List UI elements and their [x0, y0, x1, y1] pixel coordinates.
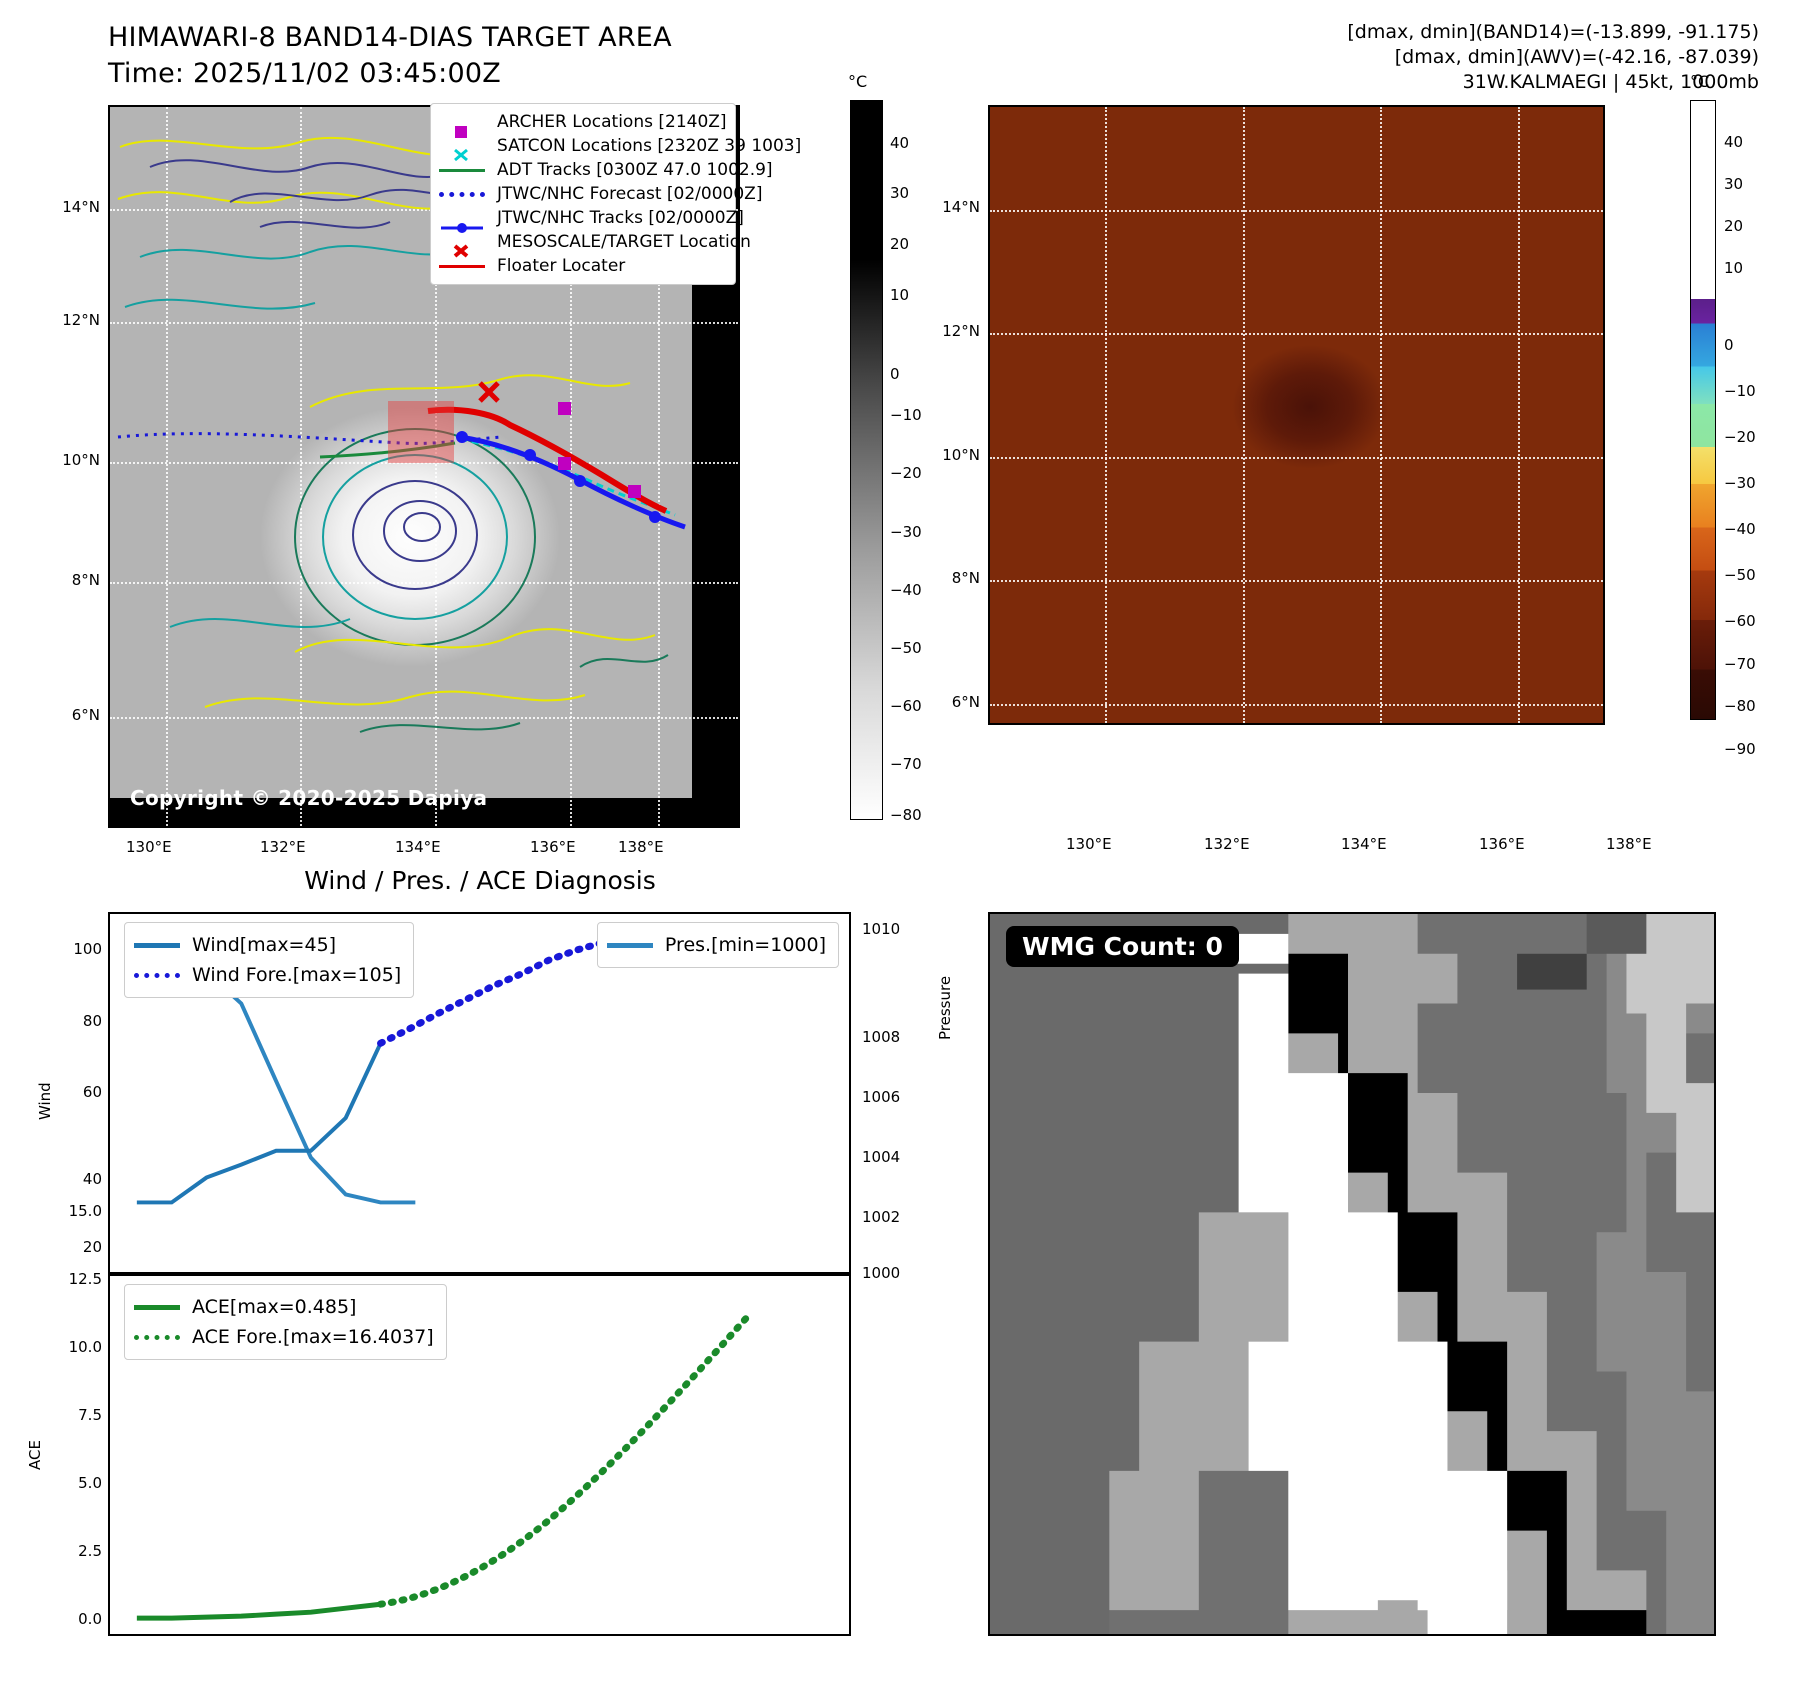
legend-item-jtwc-forecast: JTWC/NHC Forecast [02/0000Z]: [439, 182, 727, 206]
awv-colorbar: [1690, 100, 1716, 720]
awv-satellite-panel[interactable]: [988, 105, 1605, 725]
awv-xtick-130e: 130°E: [1066, 835, 1112, 853]
legend-item-jtwc-tracks: JTWC/NHC Tracks [02/0000Z]: [439, 206, 727, 230]
legend-item-ace: ACE[max=0.485]: [134, 1292, 434, 1322]
ir-xtick-134e: 134°E: [395, 838, 441, 856]
ace-ytick-12_5: 12.5: [40, 1270, 102, 1288]
legend-label: SATCON Locations [2320Z 39 1003]: [497, 134, 801, 158]
pres-ytick-1006: 1006: [862, 1088, 900, 1106]
awv-cb-tick: 0: [1724, 336, 1734, 354]
copyright-text: Copyright © 2020-2025 Dapiya: [130, 786, 487, 810]
pres-ytick-1010: 1010: [862, 920, 900, 938]
legend-item-pressure: Pres.[min=1000]: [607, 930, 826, 960]
legend-label: JTWC/NHC Forecast [02/0000Z]: [497, 182, 762, 206]
legend-label: MESOSCALE/TARGET Location: [497, 230, 751, 254]
wind-series: [137, 1043, 381, 1202]
wmg-image: [990, 914, 1714, 1634]
ir-cb-tick: −70: [890, 755, 922, 773]
ir-ytick-10n: 10°N: [40, 451, 100, 469]
dmax-band14-text: [dmax, dmin](BAND14)=(-13.899, -91.175): [1347, 20, 1759, 45]
wind-forecast-dotted-icon: [134, 973, 180, 978]
pres-ytick-1008: 1008: [862, 1028, 900, 1046]
awv-cb-tick: −40: [1724, 520, 1756, 538]
wind-axis-label: Wind: [36, 1082, 54, 1120]
ir-ytick-8n: 8°N: [46, 571, 100, 589]
grid-line-lat-14: [990, 210, 1603, 212]
wind-ytick-40: 40: [58, 1170, 102, 1188]
wmg-panel[interactable]: WMG Count: 0: [988, 912, 1716, 1636]
awv-ytick-10n: 10°N: [920, 446, 980, 464]
grid-line-lon-130: [1105, 107, 1107, 723]
legend-label: Pres.[min=1000]: [665, 930, 826, 960]
grid-line-lat-6: [990, 704, 1603, 706]
ir-cb-tick: 0: [890, 365, 900, 383]
ace-ytick-0: 0.0: [46, 1610, 102, 1628]
page-title: HIMAWARI-8 BAND14-DIAS TARGET AREA Time:…: [108, 20, 672, 92]
awv-image: [990, 107, 1603, 723]
ir-cb-tick: −10: [890, 406, 922, 424]
ir-map-legend: ARCHER Locations [2140Z] SATCON Location…: [430, 103, 736, 285]
grid-line-lon-132: [1243, 107, 1245, 723]
wind-legend: Wind[max=45] Wind Fore.[max=105]: [124, 922, 414, 998]
pres-ytick-1004: 1004: [862, 1148, 900, 1166]
awv-cb-tick: 10: [1724, 259, 1743, 277]
awv-xtick-132e: 132°E: [1204, 835, 1250, 853]
pres-ytick-1002: 1002: [862, 1208, 900, 1226]
pres-ytick-1000: 1000: [862, 1264, 900, 1282]
time-line: Time: 2025/11/02 03:45:00Z: [108, 56, 672, 92]
ir-cb-tick: 20: [890, 235, 909, 253]
ir-cb-tick: −60: [890, 697, 922, 715]
ace-ytick-7_5: 7.5: [46, 1406, 102, 1424]
ace-ytick-10: 10.0: [40, 1338, 102, 1356]
ir-ytick-14n: 14°N: [40, 198, 100, 216]
wind-ytick-100: 100: [52, 940, 102, 958]
awv-xtick-136e: 136°E: [1479, 835, 1525, 853]
ir-colorbar-unit: °C: [848, 72, 867, 91]
floater-line-icon: [439, 265, 485, 268]
legend-label: ACE Fore.[max=16.4037]: [192, 1322, 434, 1352]
awv-cb-tick: −60: [1724, 612, 1756, 630]
ir-cb-tick: −30: [890, 523, 922, 541]
awv-cb-tick: −80: [1724, 697, 1756, 715]
ace-axis-label: ACE: [26, 1440, 44, 1470]
ace-forecast-series: [381, 1318, 747, 1604]
ir-cb-tick: −20: [890, 464, 922, 482]
awv-cb-tick: −50: [1724, 566, 1756, 584]
awv-ytick-14n: 14°N: [920, 198, 980, 216]
grid-line-lon-136: [1518, 107, 1520, 723]
legend-label: ADT Tracks [0300Z 47.0 1002.9]: [497, 158, 773, 182]
ir-xtick-136e: 136°E: [530, 838, 576, 856]
wind-ytick-60: 60: [58, 1083, 102, 1101]
adt-line-icon: [439, 169, 485, 172]
grid-line-lat-12: [990, 333, 1603, 335]
legend-item-archer: ARCHER Locations [2140Z]: [439, 110, 727, 134]
awv-cb-tick: −10: [1724, 382, 1756, 400]
awv-ytick-8n: 8°N: [926, 569, 980, 587]
grid-line-lon-134: [1380, 107, 1382, 723]
ir-cb-tick: 30: [890, 184, 909, 202]
ir-cb-tick: 40: [890, 134, 909, 152]
legend-item-ace-forecast: ACE Fore.[max=16.4037]: [134, 1322, 434, 1352]
ir-cb-tick: 10: [890, 286, 909, 304]
wind-line-icon: [134, 943, 180, 948]
awv-cb-tick: 20: [1724, 217, 1743, 235]
ace-series: [137, 1604, 381, 1618]
ir-ytick-6n: 6°N: [46, 706, 100, 724]
ir-cb-tick: −40: [890, 581, 922, 599]
ace-line-icon: [134, 1305, 180, 1310]
ace-ytick-5: 5.0: [46, 1474, 102, 1492]
legend-item-wind: Wind[max=45]: [134, 930, 401, 960]
ir-cb-tick: −50: [890, 639, 922, 657]
ir-xtick-132e: 132°E: [260, 838, 306, 856]
wmg-count-badge: WMG Count: 0: [1006, 926, 1239, 967]
legend-label: JTWC/NHC Tracks [02/0000Z]: [497, 206, 744, 230]
ace-forecast-dotted-icon: [134, 1335, 180, 1340]
ace-ytick-15: 15.0: [40, 1202, 102, 1220]
wind-ytick-80: 80: [58, 1012, 102, 1030]
awv-cb-tick: 40: [1724, 133, 1743, 151]
awv-cb-tick: −30: [1724, 474, 1756, 492]
pressure-axis-label: Pressure: [936, 976, 954, 1040]
legend-label: Wind[max=45]: [192, 930, 336, 960]
dmax-awv-text: [dmax, dmin](AWV)=(-42.16, -87.039): [1347, 45, 1759, 70]
grid-line-lat-10: [990, 457, 1603, 459]
wind-pressure-chart[interactable]: Wind[max=45] Wind Fore.[max=105] Pres.[m…: [108, 912, 851, 1274]
awv-ytick-12n: 12°N: [920, 322, 980, 340]
awv-cb-tick: −70: [1724, 655, 1756, 673]
jtwc-forecast-dotted-icon: [439, 192, 485, 197]
legend-label: ARCHER Locations [2140Z]: [497, 110, 727, 134]
title-line: HIMAWARI-8 BAND14-DIAS TARGET AREA: [108, 20, 672, 56]
awv-cb-tick: −20: [1724, 428, 1756, 446]
legend-label: Wind Fore.[max=105]: [192, 960, 401, 990]
diagnosis-title: Wind / Pres. / ACE Diagnosis: [0, 866, 960, 895]
ir-xtick-138e: 138°E: [618, 838, 664, 856]
ir-ytick-12n: 12°N: [40, 311, 100, 329]
ace-ytick-2_5: 2.5: [46, 1542, 102, 1560]
ace-legend: ACE[max=0.485] ACE Fore.[max=16.4037]: [124, 1284, 447, 1360]
awv-ytick-6n: 6°N: [926, 693, 980, 711]
ir-xtick-130e: 130°E: [126, 838, 172, 856]
awv-cb-tick: 30: [1724, 175, 1743, 193]
pressure-line-icon: [607, 943, 653, 948]
awv-xtick-134e: 134°E: [1341, 835, 1387, 853]
awv-colorbar-unit: °C: [1690, 72, 1709, 91]
legend-item-wind-forecast: Wind Fore.[max=105]: [134, 960, 401, 990]
awv-xtick-138e: 138°E: [1606, 835, 1652, 853]
ir-cb-tick: −80: [890, 806, 922, 824]
wind-ytick-20: 20: [58, 1238, 102, 1256]
legend-label: ACE[max=0.485]: [192, 1292, 356, 1322]
grid-line-lat-8: [990, 580, 1603, 582]
ir-colorbar: [850, 100, 883, 820]
ace-chart[interactable]: ACE[max=0.485] ACE Fore.[max=16.4037]: [108, 1274, 851, 1636]
dashboard-root: HIMAWARI-8 BAND14-DIAS TARGET AREA Time:…: [0, 0, 1801, 1690]
pressure-legend: Pres.[min=1000]: [597, 922, 839, 968]
legend-label: Floater Locater: [497, 254, 625, 278]
awv-cb-tick: −90: [1724, 740, 1756, 758]
